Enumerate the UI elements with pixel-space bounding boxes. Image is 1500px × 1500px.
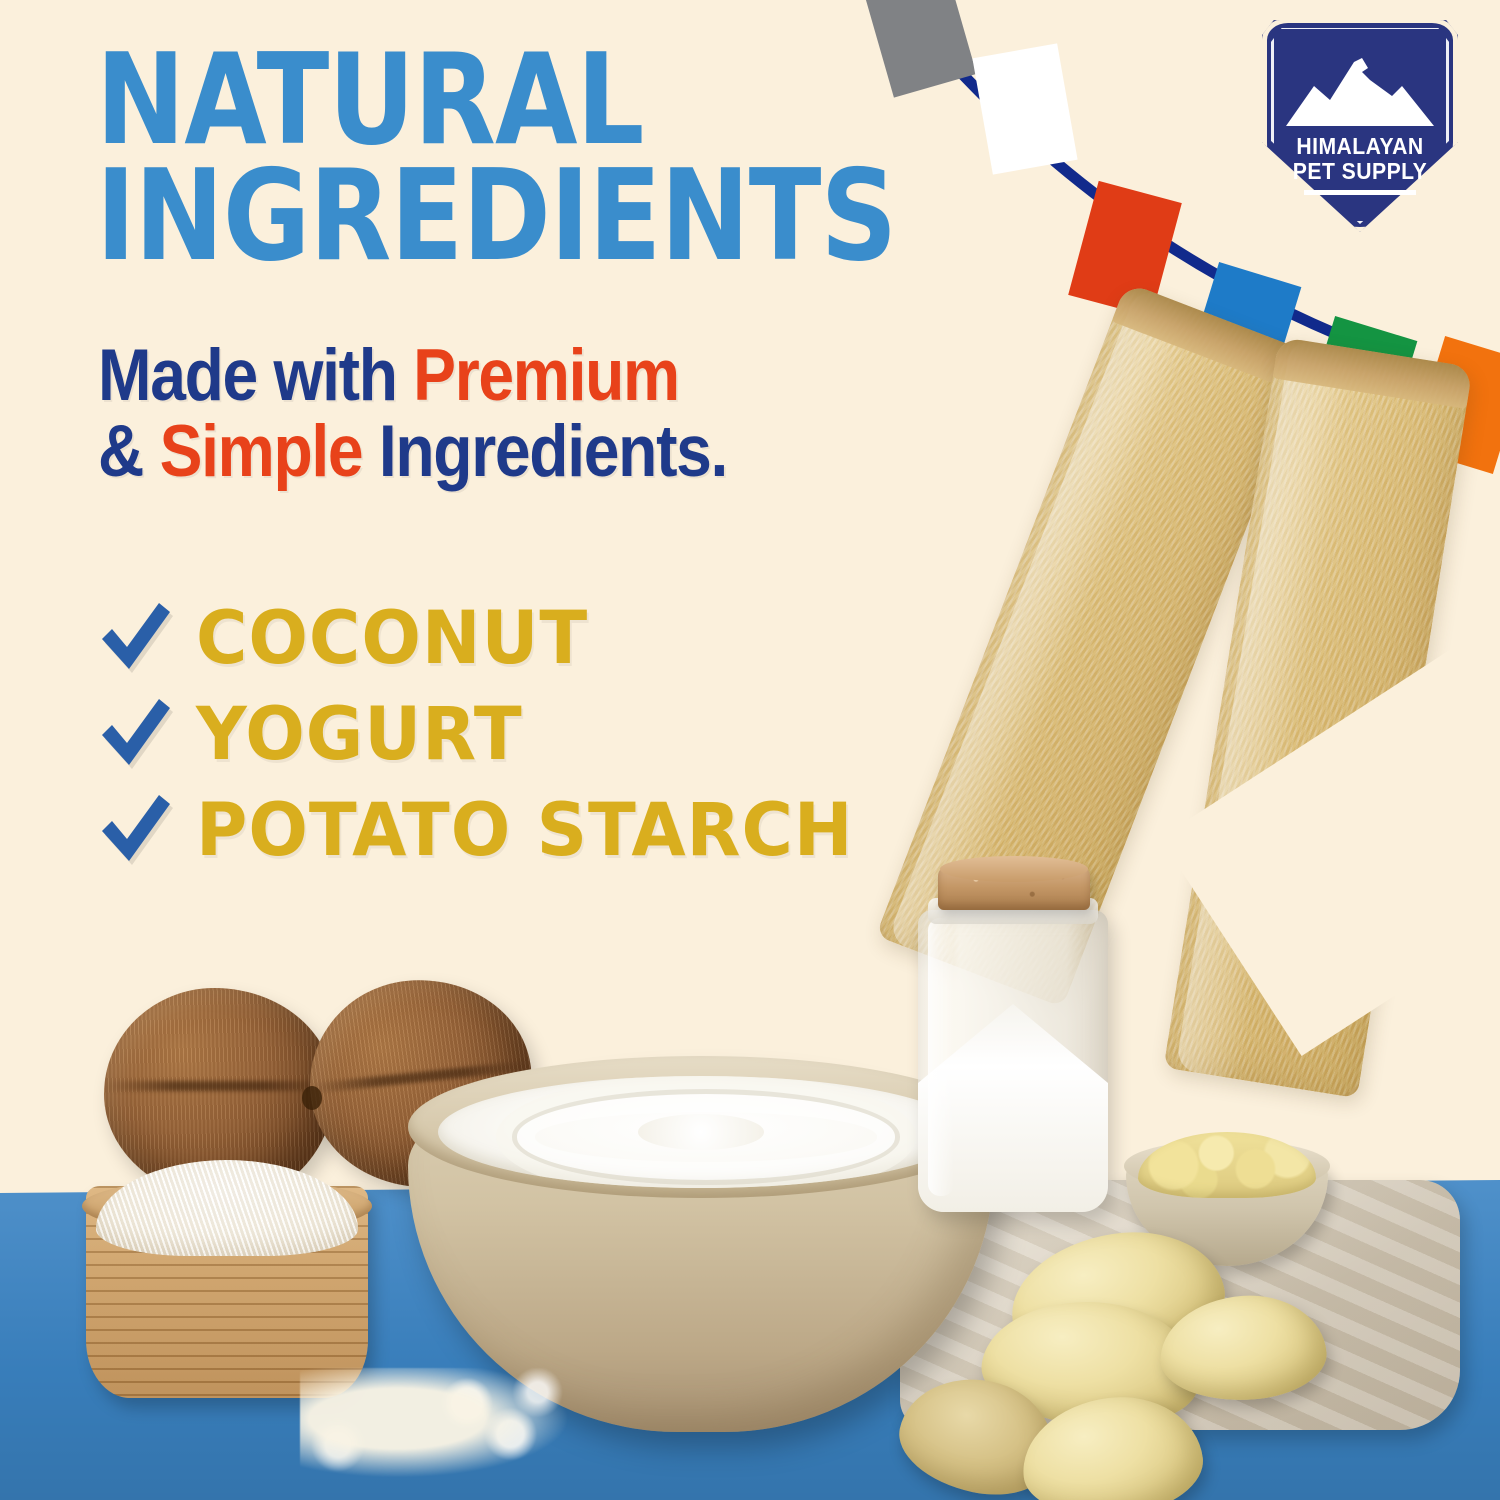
brand-name-line-2: PET SUPPLY xyxy=(1270,159,1450,184)
subheading: Made with Premium & Simple Ingredients. xyxy=(98,338,872,490)
product-infographic: NATURAL INGREDIENTS Made with Premium & … xyxy=(0,0,1500,1500)
jar-of-potato-starch xyxy=(918,910,1108,1212)
shredded-coconut xyxy=(96,1160,358,1256)
check-icon xyxy=(96,787,174,873)
list-item: POTATO STARCH xyxy=(96,787,996,873)
mountain-icon xyxy=(1284,56,1436,128)
subheading-line-2: & Simple Ingredients. xyxy=(98,414,872,490)
subheading-text-made-with: Made with xyxy=(98,335,413,416)
subheading-text-ingredients: Ingredients. xyxy=(362,411,727,492)
yogurt-surface xyxy=(438,1076,964,1188)
headline-line-1: NATURAL xyxy=(96,42,961,158)
check-icon xyxy=(96,595,174,681)
ingredient-checklist: COCONUT YOGURT POTATO STARCH xyxy=(96,595,996,883)
checklist-label-2: POTATO STARCH xyxy=(196,794,853,867)
checklist-label-1: YOGURT xyxy=(196,698,523,771)
logo-underline xyxy=(1304,190,1416,195)
coconut-eye xyxy=(302,1086,322,1110)
checklist-label-0: COCONUT xyxy=(196,602,588,675)
page-title: NATURAL INGREDIENTS xyxy=(96,42,961,274)
brand-name: HIMALAYAN PET SUPPLY xyxy=(1262,134,1458,184)
subheading-highlight-premium: Premium xyxy=(413,335,679,416)
scattered-coconut-flakes xyxy=(300,1368,570,1478)
list-item: COCONUT xyxy=(96,595,996,681)
potato-cubes xyxy=(1138,1132,1316,1198)
subheading-line-1: Made with Premium xyxy=(98,338,872,414)
headline-line-2: INGREDIENTS xyxy=(96,158,961,274)
brand-logo[interactable]: HIMALAYAN PET SUPPLY xyxy=(1262,18,1458,232)
check-icon xyxy=(96,691,174,777)
cork-lid-top xyxy=(940,856,1088,882)
subheading-text-amp: & xyxy=(98,411,160,492)
list-item: YOGURT xyxy=(96,691,996,777)
jar-glass-highlight xyxy=(928,918,954,1196)
brand-name-line-1: HIMALAYAN xyxy=(1270,134,1450,159)
subheading-highlight-simple: Simple xyxy=(160,411,363,492)
flag-white xyxy=(972,43,1077,174)
